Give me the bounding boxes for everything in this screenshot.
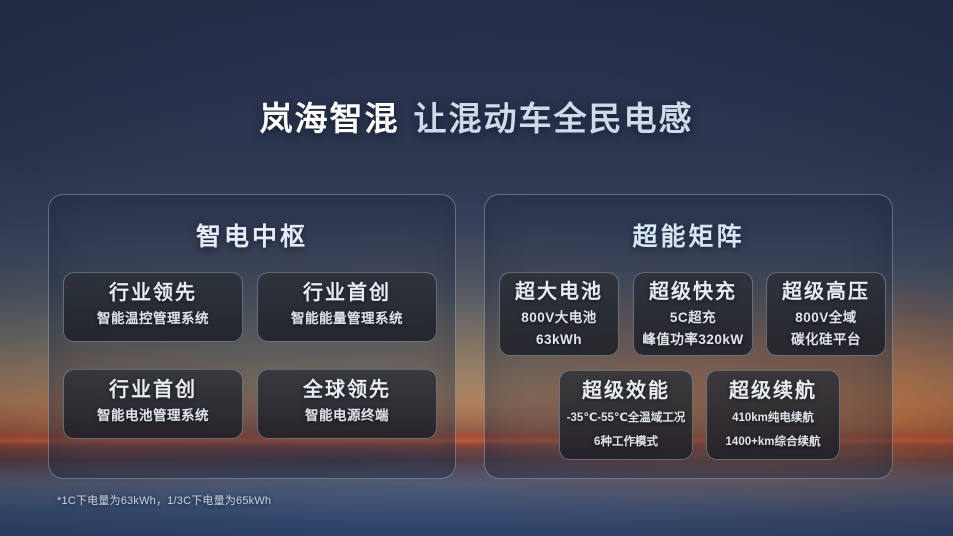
card-line: 智能电池管理系统 xyxy=(64,406,242,425)
card-heading: 行业首创 xyxy=(258,281,436,306)
card-line: 5C超充 xyxy=(634,308,752,327)
slide-headline: 岚海智混让混动车全民电感 xyxy=(0,98,953,140)
card-industry-first-battery: 行业首创 智能电池管理系统 xyxy=(63,369,243,439)
card-super-large-battery: 超大电池 800V大电池 63kWh xyxy=(499,272,619,356)
card-line: 800V大电池 xyxy=(500,308,618,327)
panel-title-smart-electric-hub: 智电中枢 xyxy=(49,217,455,253)
card-heading: 超级快充 xyxy=(634,280,752,305)
card-heading: 超级续航 xyxy=(707,379,839,404)
footnote: *1C下电量为63kWh，1/3C下电量为65kWh xyxy=(57,492,271,508)
panel-title-super-power-matrix: 超能矩阵 xyxy=(485,217,892,253)
headline-main: 岚海智混 xyxy=(260,100,400,137)
card-line: 63kWh xyxy=(500,330,618,349)
card-heading: 行业首创 xyxy=(64,378,242,403)
card-super-fast-charging: 超级快充 5C超充 峰值功率320kW xyxy=(633,272,753,356)
card-industry-first-energy: 行业首创 智能能量管理系统 xyxy=(257,272,437,342)
card-line: 410km纯电续航 xyxy=(707,409,839,428)
card-heading: 行业领先 xyxy=(64,281,242,306)
card-super-efficiency: 超级效能 -35℃-55℃全温域工况 6种工作模式 xyxy=(559,370,693,460)
card-global-leading-power-terminal: 全球领先 智能电源终端 xyxy=(257,369,437,439)
card-line: 智能电源终端 xyxy=(258,406,436,425)
card-line: 峰值功率320kW xyxy=(634,330,752,349)
card-line: 智能能量管理系统 xyxy=(258,309,436,328)
slide-canvas: 岚海智混让混动车全民电感 智电中枢 行业领先 智能温控管理系统 行业首创 智能能… xyxy=(0,0,953,536)
card-line: 碳化硅平台 xyxy=(767,330,885,349)
card-line: 智能温控管理系统 xyxy=(64,309,242,328)
card-line: 800V全域 xyxy=(767,308,885,327)
card-line: 6种工作模式 xyxy=(560,433,692,452)
card-super-high-voltage: 超级高压 800V全域 碳化硅平台 xyxy=(766,272,886,356)
card-line: -35℃-55℃全温域工况 xyxy=(560,409,692,428)
card-industry-leading-thermal: 行业领先 智能温控管理系统 xyxy=(63,272,243,342)
card-super-range: 超级续航 410km纯电续航 1400+km综合续航 xyxy=(706,370,840,460)
card-heading: 全球领先 xyxy=(258,378,436,403)
headline-subtitle: 让混动车全民电感 xyxy=(414,100,694,137)
card-heading: 超级高压 xyxy=(767,280,885,305)
card-heading: 超大电池 xyxy=(500,280,618,305)
card-line: 1400+km综合续航 xyxy=(707,433,839,452)
card-heading: 超级效能 xyxy=(560,379,692,404)
